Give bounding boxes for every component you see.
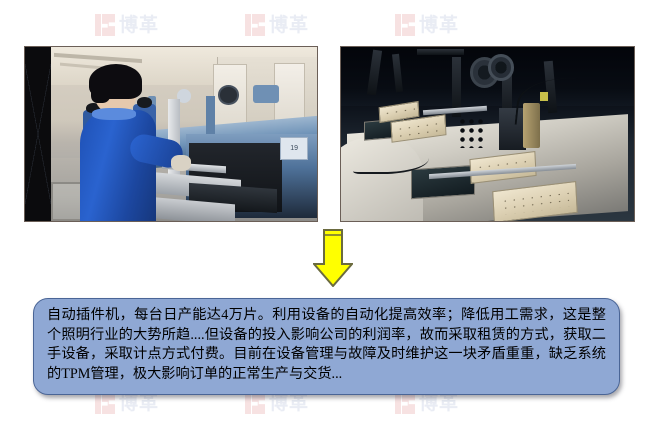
callout-body-text: 自动插件机，每台日产能达4万片。利用设备的自动化提高效率；降低用工需求，这是整个…	[47, 306, 606, 384]
photo-right-content	[341, 47, 634, 221]
watermark-label: 博革	[119, 16, 159, 35]
worker-blue-uniform	[80, 110, 156, 221]
worker-hair-side	[91, 78, 111, 102]
photo-left-content: 19	[25, 47, 317, 221]
watermark-top-1: 博革	[95, 14, 159, 36]
watermark-label: 博革	[419, 16, 459, 35]
pcb-hole-grid	[501, 190, 571, 216]
watermark-label: 博革	[119, 394, 159, 413]
watermark-row-bottom: 博革 博革 博革	[0, 392, 660, 422]
boge-logo-mark-icon	[245, 392, 265, 414]
machine-module	[253, 85, 279, 102]
watermark-label: 博革	[419, 394, 459, 413]
photo-worker-at-insertion-machine: 19	[24, 46, 318, 222]
watermark-label: 博革	[269, 16, 309, 35]
boge-logo-mark-icon	[95, 14, 115, 36]
panel-cross-brace	[25, 64, 51, 203]
down-arrow-icon	[313, 229, 353, 287]
watermark-top-3: 博革	[395, 14, 459, 36]
watermark-label: 博革	[269, 394, 309, 413]
pcb-hole-grid	[383, 106, 415, 119]
machine-number-label: 19	[280, 137, 308, 160]
boge-logo-mark-icon	[245, 14, 265, 36]
boge-logo-mark-icon	[395, 14, 415, 36]
watermark-bottom-2: 博革	[245, 392, 309, 414]
machine-column	[206, 96, 215, 134]
background-worker-head	[137, 97, 152, 107]
slide-canvas: 博革 博革 博革 博革 博革	[0, 0, 660, 432]
watermark-bottom-1: 博革	[95, 392, 159, 414]
boge-logo-mark-icon	[395, 392, 415, 414]
machine-reel	[218, 85, 240, 105]
perforated-block	[458, 117, 484, 148]
machine-pulley	[488, 54, 515, 81]
machine-gantry-beam	[417, 49, 464, 55]
pcb-hole-grid	[396, 120, 441, 138]
watermark-bottom-3: 博革	[395, 392, 459, 414]
worker-collar	[92, 108, 136, 120]
watermark-top-2: 博革	[245, 14, 309, 36]
callout-textbox: 自动插件机，每台日产能达4万片。利用设备的自动化提高效率；降低用工需求，这是整个…	[33, 298, 620, 395]
photo-insertion-machine-closeup	[340, 46, 635, 222]
boge-logo-mark-icon	[95, 392, 115, 414]
foreground-dark-panel	[25, 47, 51, 221]
worker-hand	[171, 155, 191, 171]
watermark-row-top: 博革 博革 博革	[0, 14, 660, 44]
fixture-well	[411, 165, 475, 199]
